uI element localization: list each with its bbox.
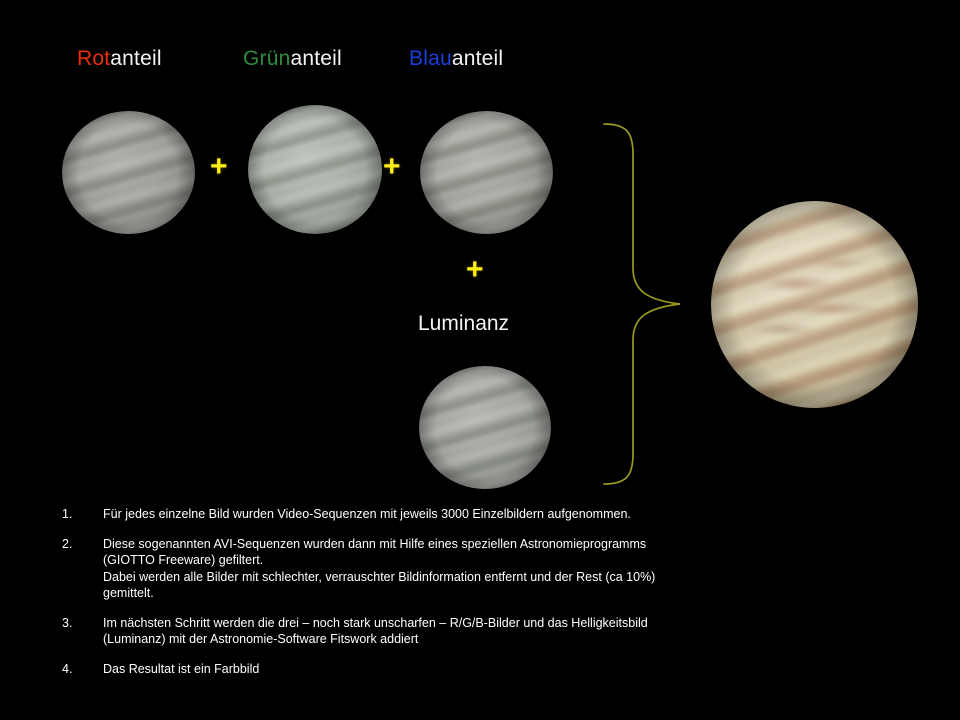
jupiter-blue-channel-image bbox=[420, 111, 553, 234]
jupiter-red-channel-image bbox=[62, 111, 195, 234]
step-text: Das Resultat ist ein Farbbild bbox=[103, 661, 902, 678]
step-number: 2. bbox=[62, 536, 103, 602]
jupiter-green-channel-image bbox=[248, 105, 382, 234]
curly-brace-icon bbox=[596, 118, 696, 490]
heading-gruenanteil: Grünanteil bbox=[243, 48, 342, 69]
list-item: 1. Für jedes einzelne Bild wurden Video-… bbox=[62, 506, 902, 523]
heading-blau-rest: anteil bbox=[452, 47, 503, 70]
heading-rot-tinted: Rot bbox=[77, 47, 110, 70]
planet-vignette bbox=[62, 111, 195, 234]
step-text: Diese sogenannten AVI-Sequenzen wurden d… bbox=[103, 536, 902, 602]
step-number: 3. bbox=[62, 615, 103, 648]
steps-list: 1. Für jedes einzelne Bild wurden Video-… bbox=[62, 506, 902, 690]
heading-gruen-tinted: Grün bbox=[243, 47, 291, 70]
heading-gruen-rest: anteil bbox=[291, 47, 342, 70]
plus-icon-green-blue: + bbox=[383, 152, 401, 182]
plus-icon-red-green: + bbox=[210, 152, 228, 182]
heading-blau-tinted: Blau bbox=[409, 47, 452, 70]
planet-vignette bbox=[420, 111, 553, 234]
list-item: 2. Diese sogenannten AVI-Sequenzen wurde… bbox=[62, 536, 902, 602]
heading-rotanteil: Rotanteil bbox=[77, 48, 162, 69]
list-item: 3. Im nächsten Schritt werden die drei –… bbox=[62, 615, 902, 648]
planet-vignette bbox=[711, 201, 918, 408]
plus-icon-luminance: + bbox=[466, 255, 484, 285]
list-item: 4. Das Resultat ist ein Farbbild bbox=[62, 661, 902, 678]
step-number: 4. bbox=[62, 661, 103, 678]
slide-canvas: Rotanteil Grünanteil Blauanteil + + + Lu… bbox=[0, 0, 960, 720]
step-number: 1. bbox=[62, 506, 103, 523]
heading-blauanteil: Blauanteil bbox=[409, 48, 503, 69]
luminanz-label: Luminanz bbox=[418, 313, 509, 334]
planet-vignette bbox=[419, 366, 551, 489]
step-text: Im nächsten Schritt werden die drei – no… bbox=[103, 615, 902, 648]
jupiter-color-composite-image bbox=[711, 201, 918, 408]
planet-vignette bbox=[248, 105, 382, 234]
jupiter-luminance-image bbox=[419, 366, 551, 489]
heading-rot-rest: anteil bbox=[110, 47, 161, 70]
step-text: Für jedes einzelne Bild wurden Video-Seq… bbox=[103, 506, 902, 523]
